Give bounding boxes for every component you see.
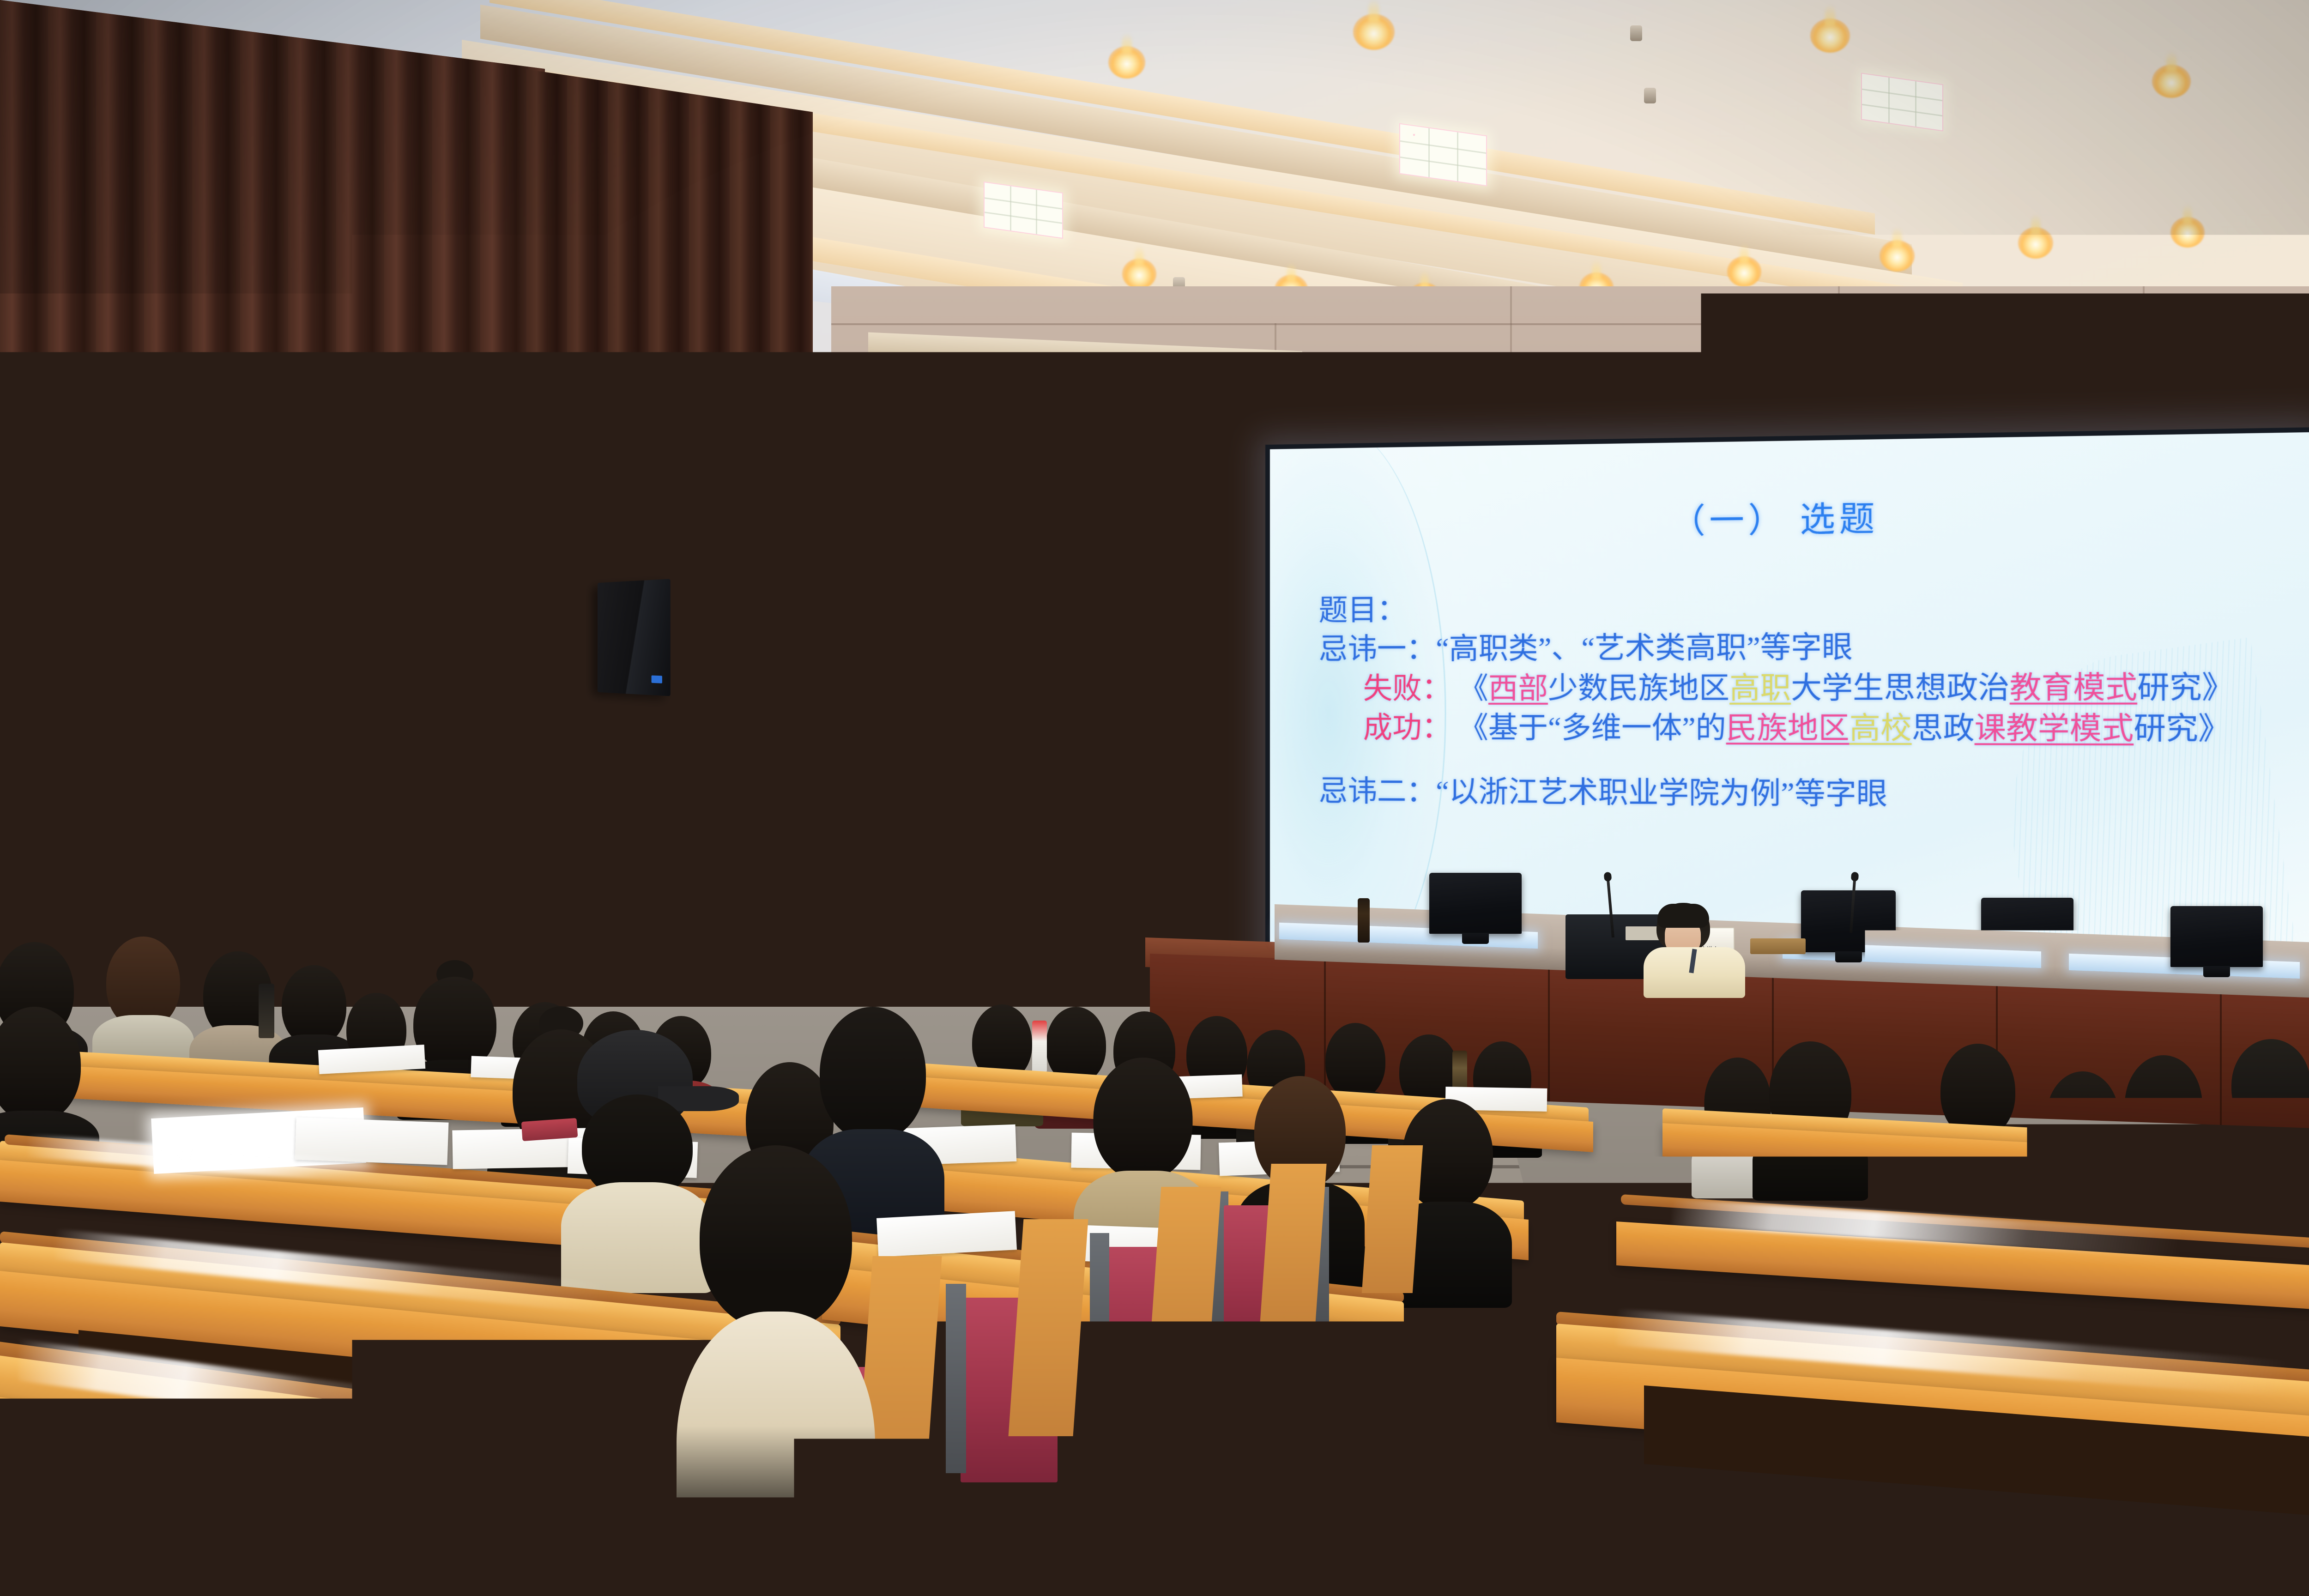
ceiling-downlight <box>1108 46 1145 79</box>
lecture-hall-scene: （一） 选题 题目： 忌讳一：“高职类”、“艺术类高职”等字眼 失败： 《西部少… <box>0 0 2309 1596</box>
wall-panel-seam <box>1510 286 1512 425</box>
dais-monitor <box>1429 873 1522 934</box>
curtain-pelmet <box>2170 294 2309 317</box>
success-seg-1: 民族地区 <box>1726 711 1850 745</box>
dais-monitor <box>1981 898 2073 959</box>
desk-end-panel <box>1362 1145 1423 1293</box>
seat-frame <box>1090 1233 1109 1404</box>
curtain-dark-left <box>0 0 545 937</box>
slide-line-taboo-two: 忌讳二：“以浙江艺术职业学院为例”等字眼 <box>1319 771 2275 816</box>
success-seg-0: 基于“多维一体”的 <box>1488 711 1726 744</box>
success-seg-4: 课教学模式 <box>1975 712 2134 746</box>
seat-frame <box>229 1413 257 1596</box>
success-open-bracket: 《 <box>1459 711 1488 744</box>
fail-seg-2: 高职 <box>1729 671 1791 704</box>
presenter <box>1646 903 1743 995</box>
fail-seg-4: 教育模式 <box>2010 671 2137 705</box>
ceiling-downlight <box>2152 65 2191 98</box>
ceiling-downlight <box>1810 18 1850 53</box>
ceiling-grid-panel <box>1413 134 1415 136</box>
ceiling-downlight <box>1880 240 1915 272</box>
wall-panel-seam <box>831 323 2309 325</box>
water-bottle <box>1032 1021 1047 1072</box>
wall-panel-seam <box>1838 286 1840 425</box>
success-label: 成功： <box>1363 711 1451 744</box>
curtain-dark-left-second <box>526 69 813 907</box>
fail-label: 失败： <box>1363 672 1451 705</box>
ceiling-downlight <box>1353 14 1395 50</box>
ceiling-downlight <box>1122 259 1156 289</box>
water-bottle <box>259 984 274 1038</box>
slide-title: （一） 选题 <box>1302 485 2275 546</box>
no-food-sign-line1: 食品、饮料 <box>588 816 625 841</box>
success-seg-3: 思政 <box>1912 712 1975 745</box>
ceiling-downlight <box>2018 227 2053 259</box>
fail-close-bracket: 》 <box>2202 670 2234 704</box>
ceiling-downlight <box>2170 217 2205 248</box>
projection-screen[interactable]: （一） 选题 题目： 忌讳一：“高职类”、“艺术类高职”等字眼 失败： 《西部少… <box>1270 432 2309 984</box>
presenter-fringe <box>1657 904 1709 928</box>
paper-sheet <box>2041 1125 2157 1154</box>
dais-monitor <box>1801 890 1896 952</box>
success-seg-2: 高校 <box>1850 711 1912 745</box>
slide-line-fail: 失败： 《西部少数民族地区高职大学生思想政治教育模式研究》 <box>1319 666 2275 708</box>
dark-bottle <box>1358 898 1370 943</box>
sprinkler-head <box>1630 25 1642 41</box>
fail-seg-5: 研究 <box>2137 670 2202 704</box>
slide-line-topic-label: 题目： <box>1319 584 2275 630</box>
success-seg-5: 研究 <box>2134 712 2198 746</box>
desk-end-panel <box>1259 1164 1326 1330</box>
fail-open-bracket: 《 <box>1459 672 1488 705</box>
jbl-logo-icon <box>652 675 662 683</box>
slide-body: 题目： 忌讳一：“高职类”、“艺术类高职”等字眼 失败： 《西部少数民族地区高职… <box>1302 584 2275 816</box>
audience-member-foreground <box>683 1145 868 1593</box>
success-close-bracket: 》 <box>2198 712 2230 746</box>
fail-seg-0: 西部 <box>1488 671 1548 704</box>
no-food-sign-line2: 场内禁止食用 <box>588 841 625 866</box>
wall-speaker-jbl <box>598 579 671 696</box>
sprinkler-head <box>1644 88 1656 103</box>
fail-seg-3: 大学生思想政治 <box>1791 671 2010 704</box>
seat-frame <box>946 1284 966 1473</box>
slide-line-taboo-one: 忌讳一：“高职类”、“艺术类高职”等字眼 <box>1319 625 2275 669</box>
projection-screen-bezel: （一） 选题 题目： 忌讳一：“高职类”、“艺术类高职”等字眼 失败： 《西部少… <box>1265 427 2309 989</box>
book-stack <box>1750 938 1806 954</box>
slide-line-success: 成功： 《基于“多维一体”的民族地区高校思政课教学模式研究》 <box>1319 708 2275 750</box>
fail-seg-1: 少数民族地区 <box>1548 671 1729 705</box>
no-food-sign: 食品、饮料 场内禁止食用 <box>585 812 628 867</box>
dais-monitor <box>2170 906 2263 967</box>
paper-sheet <box>876 1211 1017 1257</box>
ceiling-downlight <box>1727 256 1761 287</box>
